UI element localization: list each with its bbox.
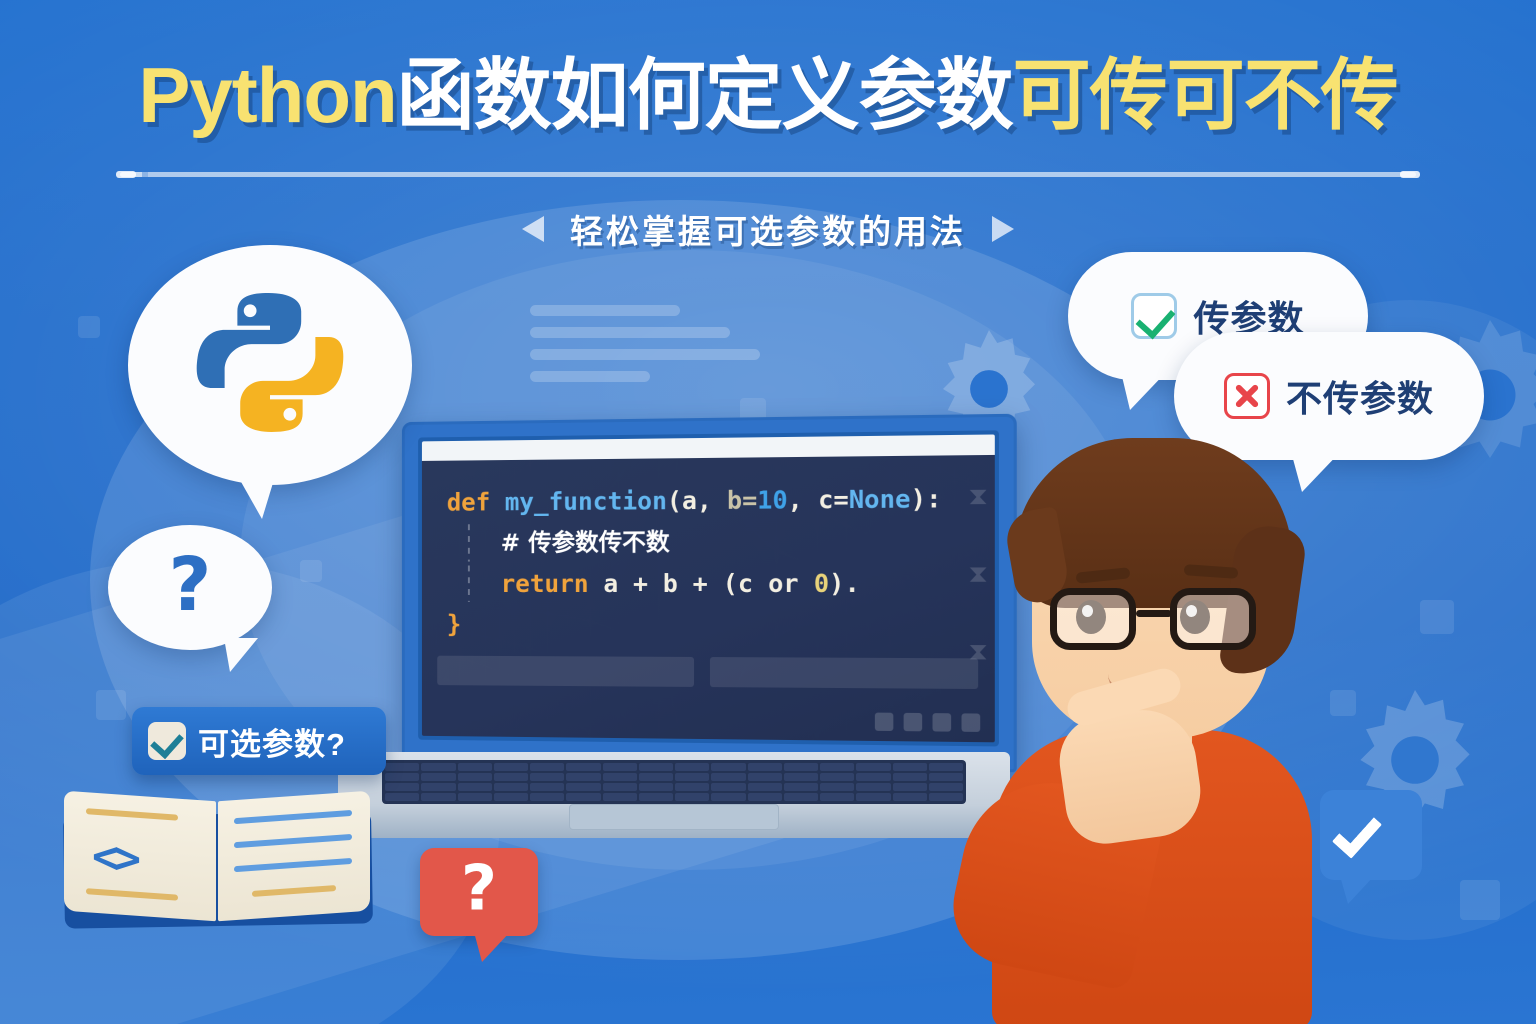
- code-symbol-icon: <>: [92, 831, 137, 885]
- laptop-base: [338, 752, 1010, 838]
- token-zero: 0: [814, 569, 829, 598]
- token-def: def: [447, 488, 490, 517]
- laptop-screen: def my_function(a, b=10, c=None): # 传参数传…: [422, 455, 995, 742]
- decor-square: [78, 316, 100, 338]
- subtitle-row: 轻松掌握可选参数的用法: [0, 205, 1536, 253]
- token-return: return: [501, 569, 589, 598]
- decor-square: [1460, 880, 1500, 920]
- arrow-right-icon: [992, 216, 1014, 242]
- token-close-paren: ):: [911, 484, 942, 514]
- token-expression: a + b + (c or: [603, 569, 813, 598]
- book-page-left: <>: [64, 791, 216, 922]
- open-book-illustration: <>: [58, 788, 378, 938]
- decor-square: [96, 690, 126, 720]
- code-line-4: }: [447, 604, 955, 646]
- keyboard-row: [385, 793, 963, 801]
- decor-square: [300, 560, 322, 582]
- bubble-tail: [474, 932, 510, 962]
- decor-square: [1420, 600, 1454, 634]
- token-expression-tail: ).: [829, 569, 860, 598]
- glasses-lens: [1170, 588, 1256, 650]
- token-arg-c: , c=: [788, 485, 849, 515]
- background-code-lines: [530, 305, 770, 393]
- keyboard-row: [385, 763, 963, 771]
- title-yellow-part: 可传可不传: [1013, 51, 1398, 139]
- python-logo-icon: [192, 285, 348, 446]
- keyboard-row: [385, 783, 963, 791]
- token-open-paren: (: [667, 486, 682, 515]
- poster-canvas: Python函数如何定义参数可传可不传 轻松掌握可选参数的用法 def my_f…: [0, 0, 1536, 1024]
- code-line-1: def my_function(a, b=10, c=None):: [447, 478, 955, 523]
- token-fname: my_function: [505, 486, 667, 516]
- check-icon: [1131, 293, 1177, 339]
- arrow-left-icon: [522, 216, 544, 242]
- question-mark-icon: ?: [169, 542, 212, 628]
- title-python: Python: [138, 51, 396, 139]
- laptop-illustration: def my_function(a, b=10, c=None): # 传参数传…: [338, 418, 1010, 838]
- optional-param-label: 可选参数?: [198, 719, 346, 764]
- code-block: def my_function(a, b=10, c=None): # 传参数传…: [447, 478, 955, 646]
- token-arg-a: a,: [682, 486, 712, 515]
- thinking-person-illustration: [940, 412, 1360, 1024]
- token-arg-b: b=: [727, 486, 757, 515]
- laptop-lid: def my_function(a, b=10, c=None): # 传参数传…: [402, 414, 1017, 773]
- code-line-2: # 传参数传不数: [447, 520, 955, 564]
- token-arg-c-value: None: [849, 484, 911, 514]
- optional-param-badge[interactable]: 可选参数?: [132, 707, 386, 775]
- title-divider: [120, 172, 1416, 177]
- person-hair: [1014, 438, 1292, 608]
- laptop-keyboard: [382, 760, 966, 804]
- title-white-part: 函数如何定义参数: [397, 51, 1013, 139]
- question-mark-icon: ?: [461, 852, 497, 925]
- token-arg-b-value: 10: [757, 485, 787, 514]
- glasses-lens: [1050, 588, 1136, 650]
- laptop-bezel: def my_function(a, b=10, c=None): # 传参数传…: [418, 430, 999, 746]
- book-page-right: [218, 791, 370, 922]
- laptop-trackpad: [569, 804, 779, 830]
- red-question-bubble: ?: [420, 848, 538, 936]
- editor-status-bar: [437, 656, 978, 689]
- page-title: Python函数如何定义参数可传可不传: [0, 56, 1536, 134]
- question-bubble: ?: [108, 525, 272, 650]
- code-line-3: return a + b + (c or 0).: [447, 562, 955, 604]
- glasses-icon: [1050, 588, 1256, 652]
- page-subtitle: 轻松掌握可选参数的用法: [570, 205, 966, 253]
- check-icon: [148, 722, 186, 760]
- python-logo-bubble: [128, 245, 412, 485]
- bubble-tail: [224, 638, 258, 672]
- token-comment: # 传参数传不数: [501, 528, 670, 556]
- token-closing-brace: }: [447, 610, 461, 638]
- glasses-bridge: [1136, 610, 1172, 617]
- bubble-tail: [236, 473, 276, 519]
- keyboard-row: [385, 773, 963, 781]
